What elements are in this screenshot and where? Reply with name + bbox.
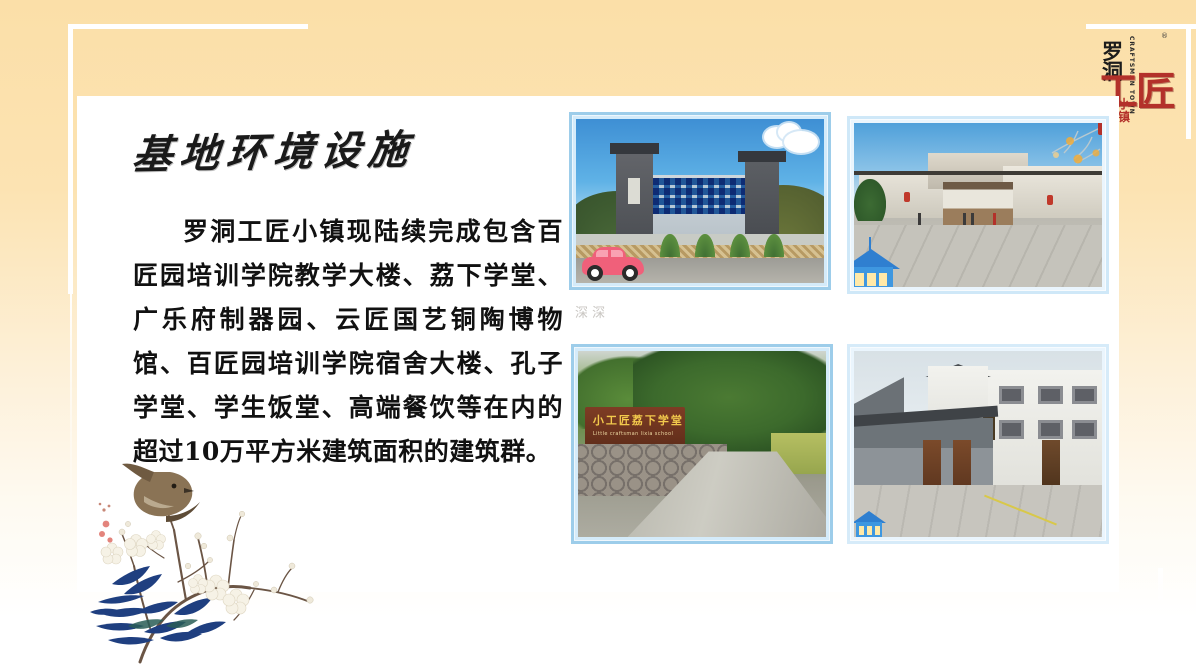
roof-line: [854, 171, 1102, 175]
photo-training-building[interactable]: [569, 112, 831, 290]
photo-courtyard-plaza[interactable]: 匠: [847, 116, 1109, 294]
vertical-sign: [628, 178, 640, 204]
photo-lixia-school[interactable]: 小工匠荔下学堂 Little craftsman lixia school: [571, 344, 833, 544]
brand-logo-sub-characters: 小镇: [1118, 98, 1133, 124]
seal-stamp-icon: 匠: [1098, 123, 1102, 135]
person: [963, 213, 966, 224]
photo-grid: 深 深: [569, 112, 1109, 560]
photo-training-building-image: [576, 119, 824, 283]
house-icon: [854, 509, 886, 537]
text-column: 基地环境设施 罗洞工匠小镇现陆续完成包含百匠园培训学院教学大楼、荔下学堂、广乐府…: [133, 118, 603, 474]
palm-tree: [730, 234, 750, 257]
frame-line-top-left-vertical: [68, 24, 73, 294]
page-title: 基地环境设施: [130, 113, 606, 181]
school-sign-english: Little craftsman lixia school: [593, 431, 682, 437]
wooden-door: [953, 440, 970, 488]
lantern: [1047, 195, 1053, 205]
body-paragraph: 罗洞工匠小镇现陆续完成包含百匠园培训学院教学大楼、荔下学堂、广乐府制器园、云匠国…: [133, 210, 563, 474]
central-gate: [943, 182, 1012, 225]
photo-grey-brick-hall-image: [854, 351, 1102, 537]
frame-line-left-vertical-fade: [70, 284, 72, 534]
decorative-scribble: 深 深: [575, 306, 605, 321]
frame-line-top-left-horizontal: [68, 24, 308, 29]
photo-courtyard-plaza-image: 匠: [854, 123, 1102, 287]
lantern: [904, 192, 910, 202]
slide-canvas: ® CRAFTSMAN TOWN 罗洞 工匠 小镇 基地环境设施 罗洞工匠小镇现…: [0, 0, 1196, 672]
palm-tree: [695, 234, 715, 257]
school-sign-chinese: 小工匠荔下学堂: [593, 412, 677, 428]
tree: [854, 179, 886, 222]
person: [971, 213, 974, 224]
plum-blossom-bamboo-bird-painting: [78, 462, 348, 672]
frame-line-bottom-right-vertical: [1158, 568, 1163, 612]
frame-line-top-right-vertical: [1186, 24, 1191, 139]
cloud-icon: [762, 123, 820, 155]
palm-tree: [660, 234, 680, 257]
person: [918, 213, 921, 224]
palm-tree: [764, 234, 784, 257]
paved-ground: [854, 485, 1102, 537]
car-icon: [582, 247, 644, 281]
bird-icon: [122, 464, 200, 522]
wooden-door: [1042, 440, 1059, 488]
building-windows: [653, 178, 752, 214]
wooden-door: [923, 440, 940, 488]
registered-trademark-mark: ®: [1161, 32, 1168, 40]
photo-grey-brick-hall[interactable]: [847, 344, 1109, 544]
photo-lixia-school-image: 小工匠荔下学堂 Little craftsman lixia school: [578, 351, 826, 537]
house-icon: [854, 237, 900, 287]
person: [993, 213, 996, 224]
